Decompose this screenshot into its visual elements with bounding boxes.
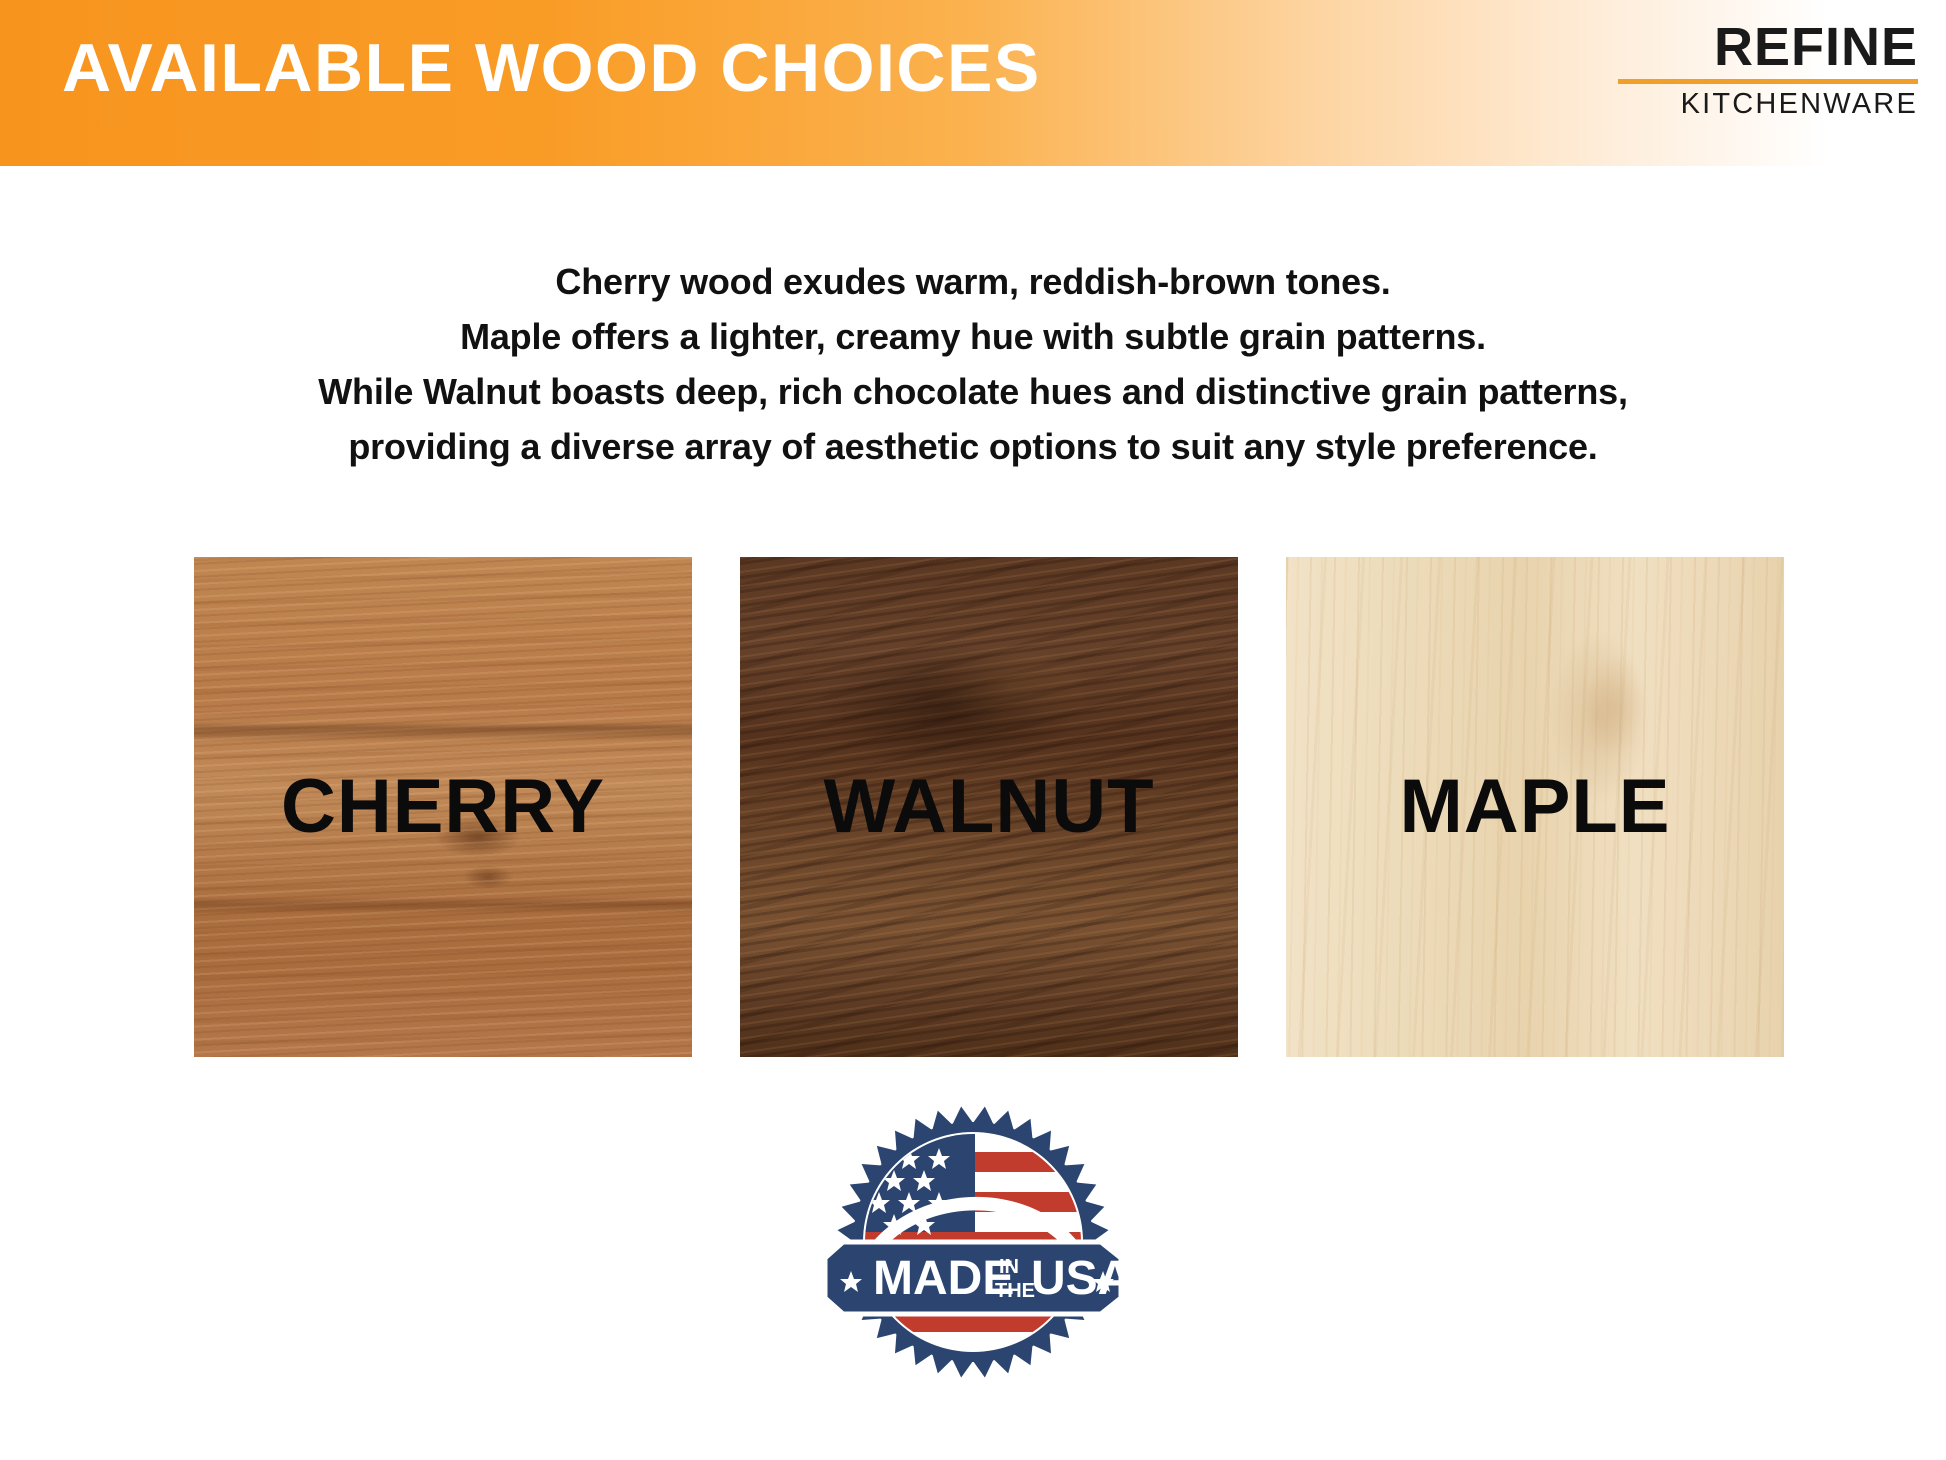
brand-name: REFINE <box>1618 20 1918 75</box>
badge-word-usa: USA <box>1031 1252 1132 1305</box>
badge-word-the: THE <box>995 1280 1035 1302</box>
slide-canvas: AVAILABLE WOOD CHOICES REFINE KITCHENWAR… <box>0 0 1946 1460</box>
wood-swatch-label-walnut: WALNUT <box>740 769 1238 845</box>
description-block: Cherry wood exudes warm, reddish-brown t… <box>0 254 1946 474</box>
page-header: AVAILABLE WOOD CHOICES REFINE KITCHENWAR… <box>0 0 1946 166</box>
wood-swatch-cherry[interactable]: CHERRY <box>194 557 692 1057</box>
badge-banner-text: MADE IN THE USA <box>840 1252 1132 1305</box>
description-line-1: Cherry wood exudes warm, reddish-brown t… <box>0 254 1946 309</box>
badge-word-in: IN <box>999 1256 1019 1278</box>
page-title: AVAILABLE WOOD CHOICES <box>62 34 1041 102</box>
description-line-3: While Walnut boasts deep, rich chocolate… <box>0 364 1946 419</box>
badge-word-made: MADE <box>873 1252 1014 1305</box>
description-line-2: Maple offers a lighter, creamy hue with … <box>0 309 1946 364</box>
brand-logo: REFINE KITCHENWARE <box>1618 20 1918 119</box>
brand-tagline: KITCHENWARE <box>1618 90 1918 119</box>
wood-swatch-maple[interactable]: MAPLE <box>1286 557 1784 1057</box>
wood-swatch-label-maple: MAPLE <box>1286 769 1784 845</box>
made-in-usa-badge: MADE IN THE USA <box>803 1090 1143 1400</box>
wood-swatch-row: CHERRY WALNUT MAPLE <box>194 557 1784 1057</box>
logo-divider-rule <box>1618 79 1918 84</box>
wood-swatch-label-cherry: CHERRY <box>194 769 692 845</box>
made-in-usa-badge-icon: MADE IN THE USA <box>803 1090 1143 1400</box>
wood-swatch-walnut[interactable]: WALNUT <box>740 557 1238 1057</box>
description-line-4: providing a diverse array of aesthetic o… <box>0 419 1946 474</box>
